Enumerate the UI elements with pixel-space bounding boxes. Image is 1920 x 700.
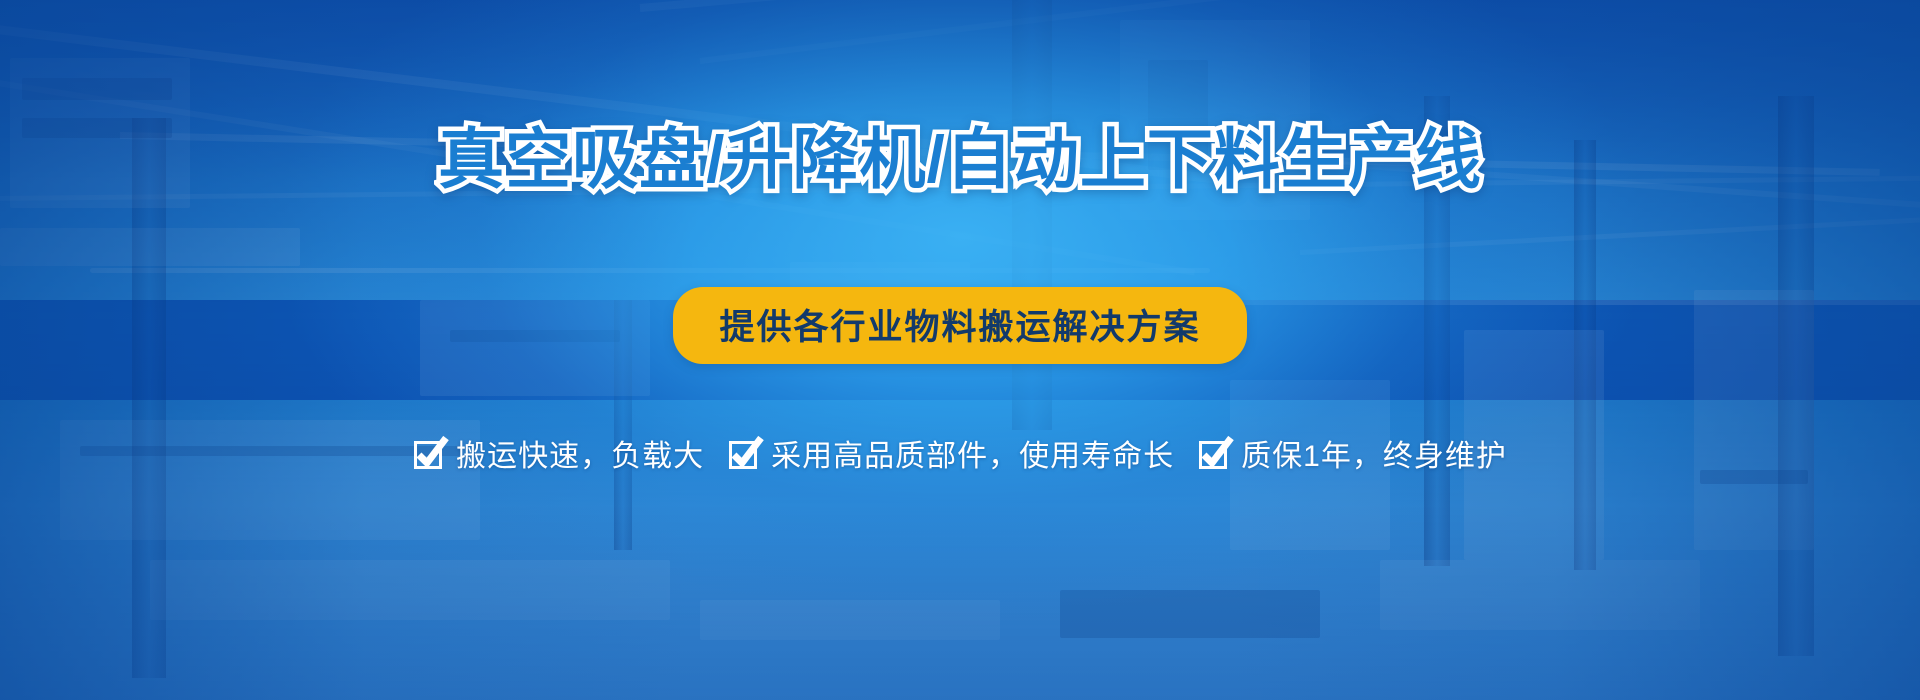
check-box-icon xyxy=(728,436,762,470)
banner-subtitle-pill: 提供各行业物料搬运解决方案 xyxy=(673,287,1246,364)
promo-banner: 真空吸盘/升降机/自动上下料生产线 提供各行业物料搬运解决方案 搬运快速，负载大 xyxy=(0,0,1920,700)
feature-item: 质保1年，终身维护 xyxy=(1198,431,1507,475)
feature-item: 采用高品质部件，使用寿命长 xyxy=(728,431,1174,475)
feature-label: 采用高品质部件，使用寿命长 xyxy=(771,431,1174,475)
feature-item: 搬运快速，负载大 xyxy=(413,431,704,475)
feature-label: 搬运快速，负载大 xyxy=(456,431,704,475)
feature-label: 质保1年，终身维护 xyxy=(1241,431,1507,475)
feature-list: 搬运快速，负载大 采用高品质部件，使用寿命长 xyxy=(0,431,1920,475)
banner-headline: 真空吸盘/升降机/自动上下料生产线 xyxy=(0,126,1920,192)
check-box-icon xyxy=(1198,436,1232,470)
check-box-icon xyxy=(413,436,447,470)
banner-subtitle-row: 提供各行业物料搬运解决方案 xyxy=(0,287,1920,364)
banner-content: 真空吸盘/升降机/自动上下料生产线 提供各行业物料搬运解决方案 搬运快速，负载大 xyxy=(0,0,1920,700)
